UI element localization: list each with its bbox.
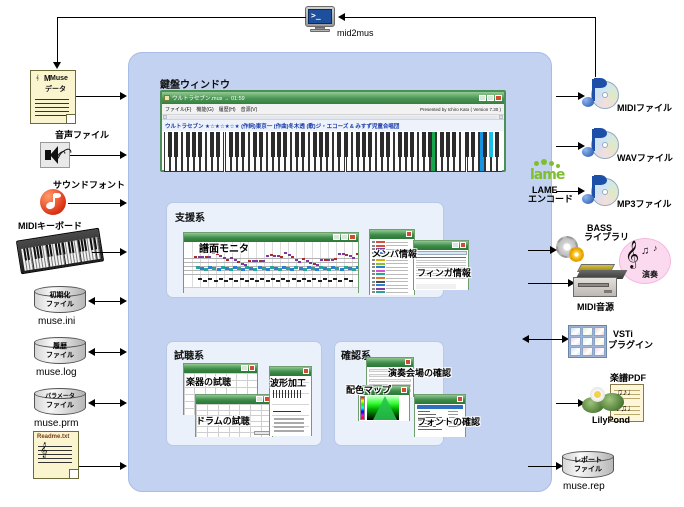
line-bass — [528, 250, 552, 251]
line-muse-to-panel — [76, 96, 121, 97]
wav-file-label: WAVファイル — [617, 154, 673, 164]
keyboard-window-title: ウルトラセブン.mus → 01:59 — [172, 94, 245, 102]
piano-keyboard[interactable] — [164, 132, 502, 172]
line-wav-file — [556, 146, 580, 147]
piano-black-key[interactable] — [380, 132, 384, 157]
piano-black-key[interactable] — [362, 132, 366, 157]
midi-file-label: MIDIファイル — [617, 104, 672, 114]
piano-black-key[interactable] — [174, 132, 178, 157]
finger-info-label: フィンガ情報 — [417, 266, 471, 279]
piano-black-key[interactable] — [168, 132, 172, 157]
muse-doc-label-1: Muse — [50, 75, 68, 82]
arrowhead-log-in — [120, 348, 127, 356]
piano-black-key[interactable] — [446, 132, 450, 157]
arrowhead-left-mid2mus — [338, 13, 345, 21]
mp3-file-label: MP3ファイル — [617, 200, 672, 210]
report-filename: muse.rep — [563, 481, 605, 492]
piano-black-key[interactable] — [386, 132, 390, 157]
muse-doc-label-2: データ — [45, 84, 66, 94]
muse-prm-filename: muse.prm — [34, 418, 78, 429]
report-file-icon[interactable]: レポート ファイル — [562, 451, 614, 481]
arrowhead-muse-in — [120, 92, 127, 100]
vsti-plugin-cell — [594, 347, 605, 356]
vsti-plugin-cell — [582, 337, 593, 346]
venue-check-label: 演奏会場の確認 — [388, 366, 451, 379]
arrowhead-ini-out — [88, 297, 95, 305]
vsti-plugin-cell — [594, 327, 605, 336]
vsti-plugin-cell — [570, 347, 581, 356]
piano-black-key[interactable] — [216, 132, 220, 157]
piano-black-key[interactable] — [198, 132, 202, 157]
bass-library-icon[interactable] — [556, 236, 588, 264]
vsti-plugin-cell — [570, 327, 581, 336]
line-midi-device — [528, 283, 570, 284]
readme-label: Readme.txt — [37, 434, 69, 440]
piano-black-key[interactable] — [313, 132, 317, 157]
piano-black-key[interactable] — [471, 132, 475, 157]
wav-file-icon[interactable] — [582, 127, 622, 161]
arrowhead-prm-out — [88, 399, 95, 407]
soundfont-icon[interactable] — [40, 189, 66, 215]
line-lilypond — [556, 403, 580, 404]
line-mid2mus-from-midi — [345, 17, 596, 18]
line-midi-up — [595, 17, 596, 77]
finger-info-window[interactable] — [413, 240, 469, 290]
muse-ini-icon[interactable]: 初期化 ファイル — [34, 286, 86, 316]
keyboard-window-credit: Presented by Ichiro Kato ( Version 7.30 … — [420, 107, 501, 112]
midi-device-label: MIDI音源 — [577, 303, 614, 313]
mid2mus-label: mid2mus — [337, 28, 374, 38]
piano-black-key[interactable] — [483, 132, 487, 157]
piano-black-key[interactable] — [404, 132, 408, 157]
window-controls[interactable] — [479, 95, 502, 101]
piano-black-key[interactable] — [325, 132, 329, 157]
member-info-window[interactable] — [369, 229, 415, 295]
song-info-bar: ウルトラセブン ★☆★☆★☆★ (作詞)東京一 (作曲)冬木透 (歌)ジ・エコー… — [162, 120, 504, 131]
waveform-edit-label: 波形加工 — [270, 376, 306, 389]
line-vsti — [528, 339, 564, 340]
piano-black-key[interactable] — [410, 132, 414, 157]
piano-black-key[interactable] — [422, 132, 426, 157]
vsti-plugin-cell — [582, 347, 593, 356]
line-ini — [94, 301, 121, 302]
mp3-file-icon[interactable] — [582, 174, 622, 208]
muse-ini-filename: muse.ini — [38, 316, 75, 327]
piano-black-key[interactable] — [495, 132, 499, 157]
piano-black-key[interactable] — [271, 132, 275, 157]
piano-black-key[interactable] — [235, 132, 239, 157]
line-voice-to-panel — [70, 155, 121, 156]
keyboard-window-heading: 鍵盤ウィンドウ — [160, 76, 230, 91]
piano-black-key[interactable] — [241, 132, 245, 157]
lame-label-2: エンコード — [528, 195, 573, 205]
vsti-label-2: プラグイン — [608, 341, 653, 351]
muse-log-icon[interactable]: 履歴 ファイル — [34, 337, 86, 367]
keyboard-window-menubar[interactable]: ファイル(F) 機能(G) 履歴(H) 音源(V) Presented by I… — [162, 104, 504, 115]
line-report — [528, 466, 558, 467]
piano-black-key[interactable] — [489, 132, 493, 157]
muse-log-line1: 履歴 — [34, 343, 86, 352]
piano-black-key[interactable] — [295, 132, 299, 157]
muse-document-icon[interactable]: 𝄞 M Muse データ — [30, 70, 76, 124]
report-line1: レポート — [562, 457, 614, 466]
minimize-button[interactable] — [479, 95, 486, 101]
font-check-label: フォントの確認 — [417, 415, 480, 428]
drum-audition-label: ドラムの試聴 — [196, 414, 250, 427]
vsti-label-1: VSTi — [613, 330, 633, 340]
vsti-plugin-cell — [570, 337, 581, 346]
piano-black-key[interactable] — [192, 132, 196, 157]
muse-log-line2: ファイル — [34, 352, 86, 361]
piano-black-key[interactable] — [465, 132, 469, 157]
piano-black-key[interactable] — [356, 132, 360, 157]
scroll-right-button[interactable] — [499, 115, 503, 119]
muse-ini-line2: ファイル — [34, 301, 86, 310]
mid2mus-icon[interactable]: >_ — [305, 6, 335, 32]
piano-black-key[interactable] — [452, 132, 456, 157]
menu-item-sound-source[interactable]: 音源(V) — [241, 106, 258, 113]
keyboard-window[interactable]: ウルトラセブン.mus → 01:59 ファイル(F) 機能(G) 履歴(H) … — [160, 90, 506, 172]
close-button[interactable] — [495, 95, 502, 101]
line-readme — [79, 466, 121, 467]
piano-black-key[interactable] — [428, 132, 432, 157]
keyboard-window-titlebar: ウルトラセブン.mus → 01:59 — [162, 92, 504, 104]
lilypond-label: LilyPond — [592, 415, 630, 425]
piano-black-key[interactable] — [283, 132, 287, 157]
piano-black-key[interactable] — [210, 132, 214, 157]
line-midikbd-to-panel — [92, 252, 121, 253]
arrowhead-midikbd-in — [120, 248, 127, 256]
piano-black-key[interactable] — [337, 132, 341, 157]
score-monitor-label: 譜面モニタ — [199, 240, 249, 255]
muse-log-filename: muse.log — [36, 367, 77, 378]
voice-file-label: 音声ファイル — [55, 131, 109, 141]
midi-keyboard-icon[interactable] — [18, 234, 102, 268]
piano-black-key[interactable] — [229, 132, 233, 157]
lilypond-icon[interactable] — [582, 385, 628, 417]
piano-black-key[interactable] — [186, 132, 190, 157]
piano-black-key[interactable] — [398, 132, 402, 157]
piano-black-key[interactable] — [344, 132, 348, 157]
muse-ini-line1: 初期化 — [34, 292, 86, 301]
line-mid2mus-down — [57, 17, 58, 63]
midi-device-icon[interactable] — [573, 270, 625, 298]
arrowhead-soundfont-in — [120, 199, 127, 207]
menu-item-function[interactable]: 機能(G) — [196, 106, 213, 113]
arrowhead-bass — [550, 246, 557, 254]
midi-keyboard-label: MIDIキーボード — [18, 222, 82, 232]
menu-item-history[interactable]: 履歴(H) — [219, 106, 236, 113]
vsti-plugin-cell — [594, 337, 605, 346]
support-section-heading: 支援系 — [175, 209, 205, 224]
line-midi-file — [556, 96, 580, 97]
arrowhead-down-muse — [53, 62, 61, 69]
arrowhead-readme-in — [120, 462, 127, 470]
report-line2: ファイル — [562, 466, 614, 475]
scroll-left-button[interactable] — [163, 115, 167, 119]
color-map-label: 配色マップ — [346, 383, 391, 396]
line-mp3-file — [556, 191, 580, 192]
score-pdf-label: 楽譜PDF — [610, 374, 646, 384]
muse-prm-line2: ファイル — [34, 402, 86, 411]
performance-label: 演奏 — [642, 269, 658, 280]
audition-section-heading: 試聴系 — [174, 347, 204, 362]
readme-document-icon[interactable]: Readme.txt 𝄞 — [33, 431, 79, 479]
line-soundfont-to-panel — [68, 203, 121, 204]
arrowhead-ini-in — [120, 297, 127, 305]
midi-file-icon[interactable] — [582, 77, 622, 111]
vsti-plugin-icon[interactable] — [568, 325, 607, 358]
piano-black-key[interactable] — [440, 132, 444, 157]
member-info-label: メンバ情報 — [372, 247, 417, 260]
arrowhead-log-out — [88, 348, 95, 356]
piano-black-key[interactable] — [368, 132, 372, 157]
piano-black-key[interactable] — [277, 132, 281, 157]
muse-prm-icon[interactable]: パラメータ ファイル — [34, 388, 86, 418]
song-info-text: ウルトラセブン ★☆★☆★☆★ (作詞)東京一 (作曲)冬木透 (歌)ジ・エコー… — [165, 122, 399, 130]
piano-black-key[interactable] — [319, 132, 323, 157]
muse-prm-line1: パラメータ — [34, 394, 86, 402]
instrument-audition-label: 楽器の試聴 — [186, 375, 231, 388]
piano-black-key[interactable] — [259, 132, 263, 157]
maximize-button[interactable] — [487, 95, 494, 101]
piano-black-key[interactable] — [301, 132, 305, 157]
menu-item-file[interactable]: ファイル(F) — [165, 106, 191, 113]
app-icon — [164, 95, 170, 101]
line-mid2mus-to-muse — [57, 17, 306, 18]
piano-black-key[interactable] — [253, 132, 257, 157]
performance-bubble-icon: 𝄞 ♫ ♪ 演奏 — [619, 238, 671, 284]
lame-logo-icon: lame — [530, 161, 570, 183]
lame-logo-text: lame — [530, 167, 564, 183]
line-prm — [94, 403, 121, 404]
arrowhead-vsti-out — [522, 335, 529, 343]
speaker-icon[interactable] — [40, 142, 70, 168]
diagram-canvas: >_ mid2mus 鍵盤ウィンドウ ウルトラセブン.mus → 01:59 — [0, 0, 684, 507]
arrowhead-voice-in — [120, 151, 127, 159]
vsti-plugin-cell — [582, 327, 593, 336]
line-log — [94, 352, 121, 353]
arrowhead-prm-in — [120, 399, 127, 407]
